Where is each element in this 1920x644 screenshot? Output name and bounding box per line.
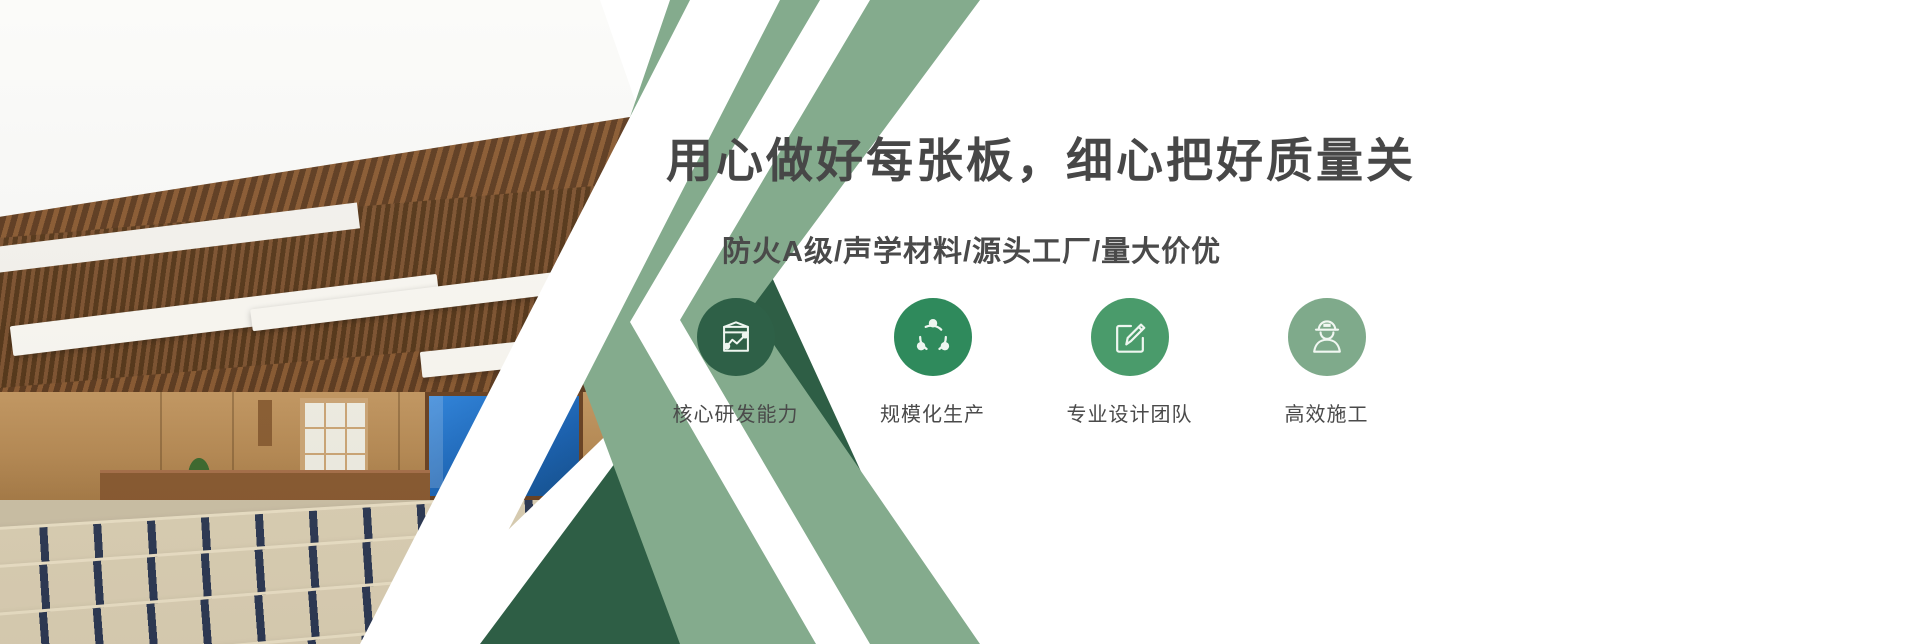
banner-subtitle: 防火A级/声学材料/源头工厂/量大价优 [722,228,1221,270]
feature-item-rnd[interactable]: 核心研发能力 [672,298,799,427]
pencil-edit-icon [1108,315,1152,359]
banner-content: 用心做好每张板，细心把好质量关 防火A级/声学材料/源头工厂/量大价优 核心研发… [0,0,1920,644]
promo-banner: 用心做好每张板，细心把好质量关 防火A级/声学材料/源头工厂/量大价优 核心研发… [0,0,1920,644]
network-share-icon [911,315,955,359]
feature-item-construction[interactable]: 高效施工 [1263,298,1390,427]
feature-icon-circle [1091,298,1169,376]
feature-label: 高效施工 [1285,398,1369,427]
rnd-chart-box-icon [714,315,758,359]
feature-icon-circle [1288,298,1366,376]
feature-item-design[interactable]: 专业设计团队 [1066,298,1193,427]
feature-label: 专业设计团队 [1067,398,1193,427]
feature-icon-circle [697,298,775,376]
feature-label: 规模化生产 [880,398,985,427]
banner-headline: 用心做好每张板，细心把好质量关 [666,122,1416,191]
feature-icon-circle [894,298,972,376]
feature-label: 核心研发能力 [673,398,799,427]
feature-item-production[interactable]: 规模化生产 [869,298,996,427]
feature-list: 核心研发能力 规模化生产 [672,298,1390,427]
worker-helmet-icon [1305,315,1349,359]
